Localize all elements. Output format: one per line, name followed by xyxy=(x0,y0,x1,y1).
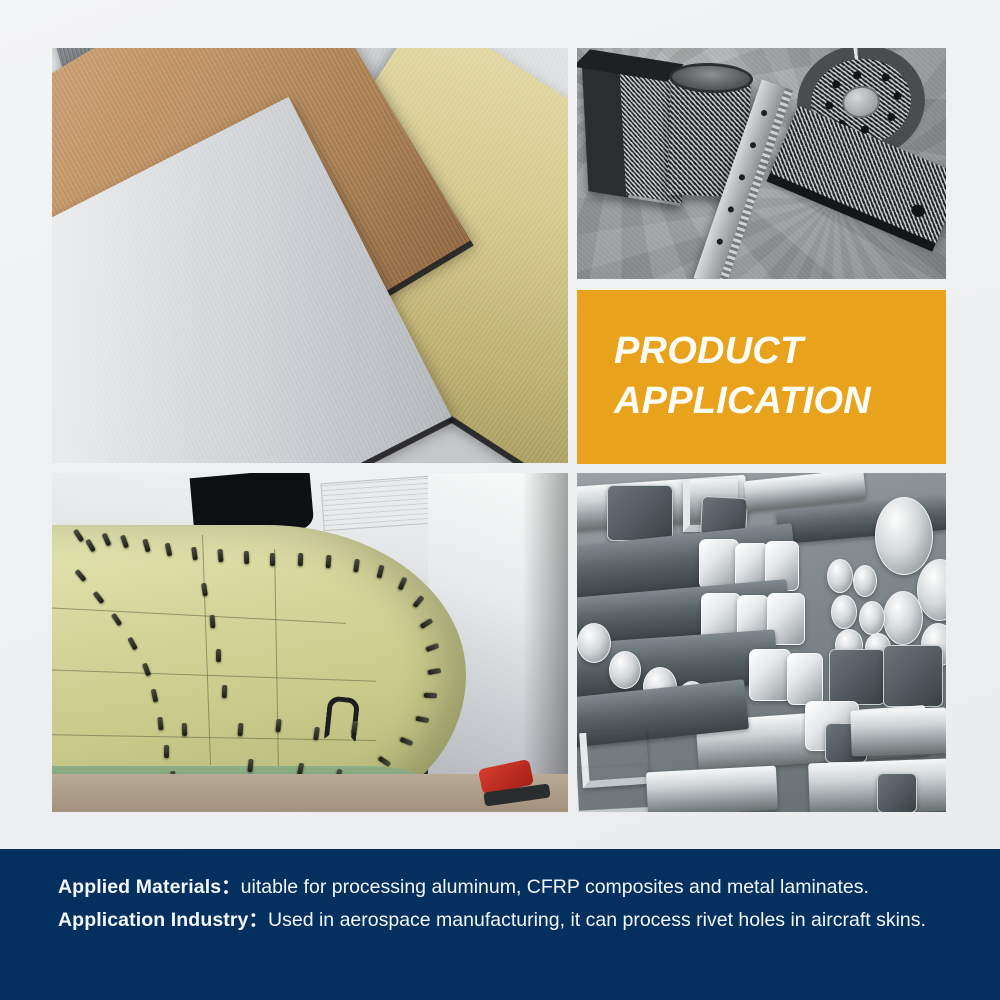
profile-round-bar xyxy=(827,559,853,593)
footer-row-application-industry: Application Industry：Used in aerospace m… xyxy=(58,904,956,937)
gear-bolt xyxy=(824,101,833,110)
cleco-fastener xyxy=(210,615,216,628)
profile-round-tube xyxy=(875,497,933,575)
frame-line xyxy=(274,549,279,769)
cleco-fastener xyxy=(424,693,437,698)
profile-round-bar xyxy=(853,565,877,597)
applied-materials-colon: ： xyxy=(221,876,241,898)
profile-square-tube xyxy=(749,649,791,701)
profile-square-tube xyxy=(699,539,739,589)
photo-brushed-aluminium-sheets xyxy=(52,48,568,463)
assembly-jig-panel xyxy=(320,475,445,531)
banner-title: PRODUCT APPLICATION xyxy=(614,326,936,426)
profile-round-bar xyxy=(577,623,611,663)
application-industry-value: Used in aerospace manufacturing, it can … xyxy=(268,909,926,931)
photo-aluminium-extrusion-profiles xyxy=(577,473,946,812)
cleco-fastener xyxy=(216,649,221,662)
aft-shadow xyxy=(522,473,568,812)
rivet-row xyxy=(52,721,346,724)
cleco-fastener xyxy=(182,723,187,736)
footer-description-bar: Applied Materials：uitable for processing… xyxy=(0,849,1000,1000)
application-industry-label: Application Industry xyxy=(58,909,249,931)
applied-materials-value: uitable for processing aluminum, CFRP co… xyxy=(241,876,869,898)
profile-square-tube-dark xyxy=(829,649,885,705)
cleco-fastener xyxy=(244,551,249,564)
frame-line xyxy=(202,535,211,765)
rivet-row xyxy=(52,751,236,754)
cleco-fastener xyxy=(238,723,244,736)
gear-bolt xyxy=(882,73,891,82)
photo-aircraft-fuselage-panel xyxy=(52,473,568,812)
cleco-fastener xyxy=(326,555,332,568)
cleco-fastener xyxy=(217,549,223,562)
application-industry-colon: ： xyxy=(249,909,269,931)
profile-round-bar xyxy=(859,601,885,635)
profile-round-bar xyxy=(831,595,857,629)
stringer-line xyxy=(52,607,346,624)
page-background: PRODUCT APPLICATION xyxy=(0,0,1000,1000)
cleco-fastener xyxy=(270,553,275,566)
cleco-fastener xyxy=(222,685,227,698)
plate-hole xyxy=(909,203,927,220)
gear-bolt xyxy=(832,80,841,89)
footer-text-lines: Applied Materials：uitable for processing… xyxy=(58,871,956,937)
cleco-fastener xyxy=(298,553,303,566)
profile-square-tube-dark xyxy=(877,773,917,812)
profile-square-tube-dark xyxy=(607,485,673,541)
profile-square-tube xyxy=(787,653,823,705)
access-panel-latch xyxy=(324,695,360,742)
profile-angle xyxy=(577,765,649,812)
profile-round-tube xyxy=(883,591,923,645)
profile-flat-bar xyxy=(850,707,946,756)
profile-round-bar xyxy=(609,651,641,689)
photo-carbon-fibre-components xyxy=(577,48,946,279)
applied-materials-label: Applied Materials xyxy=(58,876,221,898)
gear-bolt xyxy=(853,71,862,80)
product-application-banner: PRODUCT APPLICATION xyxy=(577,290,946,464)
profile-square-tube-dark xyxy=(883,645,943,707)
cleco-fastener xyxy=(164,745,169,758)
profile-flat-bar xyxy=(646,766,778,812)
footer-row-applied-materials: Applied Materials：uitable for processing… xyxy=(58,871,956,904)
carbon-square-tube xyxy=(582,62,681,206)
stringer-line xyxy=(52,669,376,682)
